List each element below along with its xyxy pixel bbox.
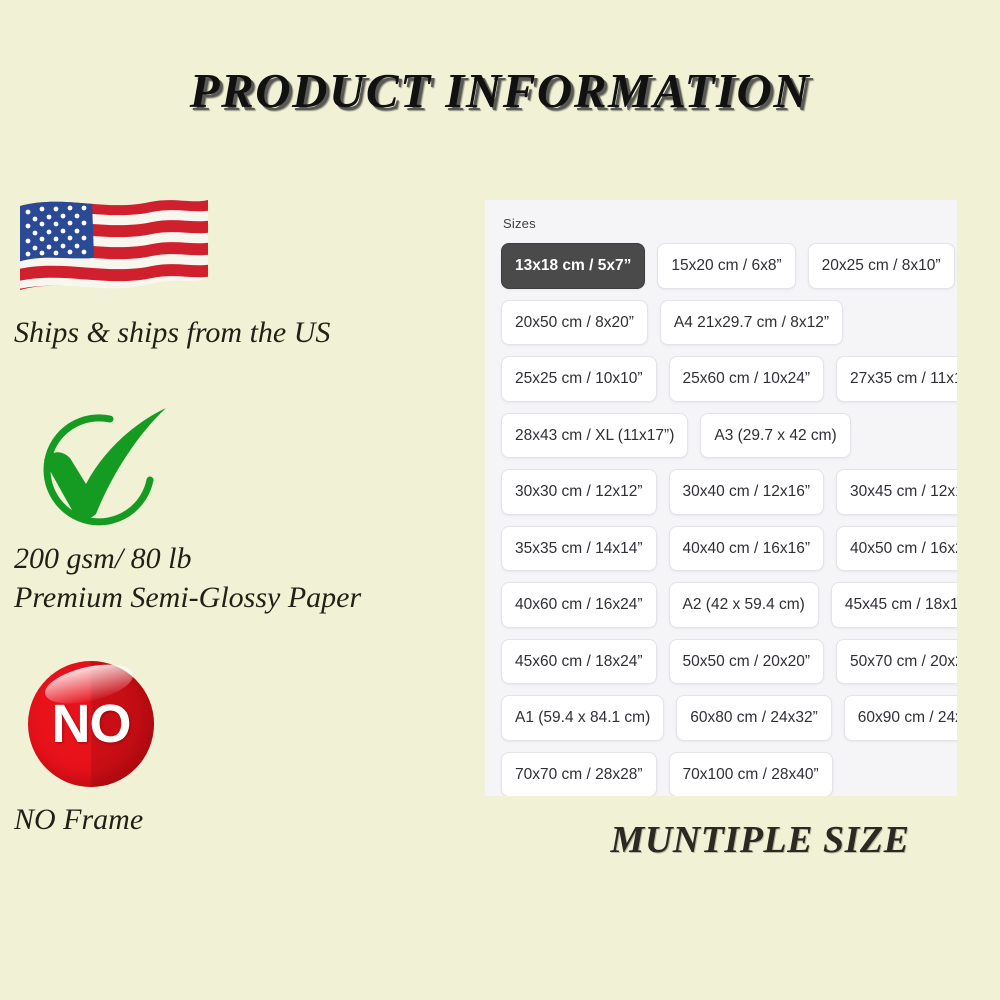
size-option-chip[interactable]: 15x20 cm / 6x8”	[657, 243, 795, 289]
size-option-chip[interactable]: 13x18 cm / 5x7”	[501, 243, 645, 289]
no-badge-circle: NO	[28, 661, 154, 787]
size-option-chip[interactable]: 20x50 cm / 8x20”	[501, 300, 648, 346]
size-option-chip[interactable]: 20x25 cm / 8x10”	[808, 243, 955, 289]
size-option-chip[interactable]: 60x80 cm / 24x32”	[676, 695, 832, 741]
size-option-chip[interactable]: 70x100 cm / 28x40”	[669, 752, 833, 797]
no-badge-icon: NO	[14, 659, 164, 789]
size-option-chip[interactable]: A2 (42 x 59.4 cm)	[669, 582, 819, 628]
size-option-chip[interactable]: 28x43 cm / XL (11x17”)	[501, 413, 688, 459]
size-option-chip[interactable]: 30x30 cm / 12x12”	[501, 469, 657, 515]
size-option-grid: 13x18 cm / 5x7”15x20 cm / 6x8”20x25 cm /…	[501, 243, 957, 796]
size-option-chip[interactable]: 30x40 cm / 12x16”	[669, 469, 825, 515]
feature-caption-no-frame: NO Frame	[14, 801, 474, 839]
feature-ships-from-us: Ships & ships from the US	[14, 190, 474, 352]
feature-list: Ships & ships from the US 200 gsm/ 80 lb…	[14, 190, 474, 854]
size-option-chip[interactable]: 35x35 cm / 14x14”	[501, 526, 657, 572]
feature-caption-gsm: 200 gsm/ 80 lb	[14, 540, 474, 578]
feature-paper-quality: 200 gsm/ 80 lb Premium Semi-Glossy Paper	[14, 394, 474, 617]
size-option-chip[interactable]: 30x45 cm / 12x18”	[836, 469, 957, 515]
size-option-chip[interactable]: 40x40 cm / 16x16”	[669, 526, 825, 572]
size-option-chip[interactable]: 25x25 cm / 10x10”	[501, 356, 657, 402]
size-option-chip[interactable]: 27x35 cm / 11x14”	[836, 356, 957, 402]
page-title: PRODUCT INFORMATION	[0, 62, 1000, 119]
size-option-chip[interactable]: 25x60 cm / 10x24”	[669, 356, 825, 402]
size-option-chip[interactable]: 45x60 cm / 18x24”	[501, 639, 657, 685]
size-option-chip[interactable]: 70x70 cm / 28x28”	[501, 752, 657, 797]
multiple-size-caption: MUNTIPLE SIZE	[560, 818, 960, 862]
feature-caption-ships: Ships & ships from the US	[14, 314, 474, 352]
no-badge-label: NO	[52, 697, 131, 751]
size-option-chip[interactable]: 60x90 cm / 24x36”	[844, 695, 957, 741]
feature-caption-paper: Premium Semi-Glossy Paper	[14, 579, 474, 617]
us-flag-icon	[14, 190, 212, 308]
size-option-chip[interactable]: A4 21x29.7 cm / 8x12”	[660, 300, 843, 346]
green-check-icon	[14, 394, 182, 534]
feature-no-frame: NO NO Frame	[14, 659, 474, 839]
size-option-chip[interactable]: 50x70 cm / 20x28”	[836, 639, 957, 685]
size-panel-label: Sizes	[503, 216, 957, 231]
size-option-chip[interactable]: 40x60 cm / 16x24”	[501, 582, 657, 628]
size-option-chip[interactable]: A3 (29.7 x 42 cm)	[700, 413, 850, 459]
size-option-chip[interactable]: 50x50 cm / 20x20”	[669, 639, 825, 685]
size-option-chip[interactable]: A1 (59.4 x 84.1 cm)	[501, 695, 664, 741]
size-option-chip[interactable]: 40x50 cm / 16x20”	[836, 526, 957, 572]
size-selector-panel: Sizes 13x18 cm / 5x7”15x20 cm / 6x8”20x2…	[485, 200, 957, 796]
size-option-chip[interactable]: 45x45 cm / 18x18”	[831, 582, 957, 628]
